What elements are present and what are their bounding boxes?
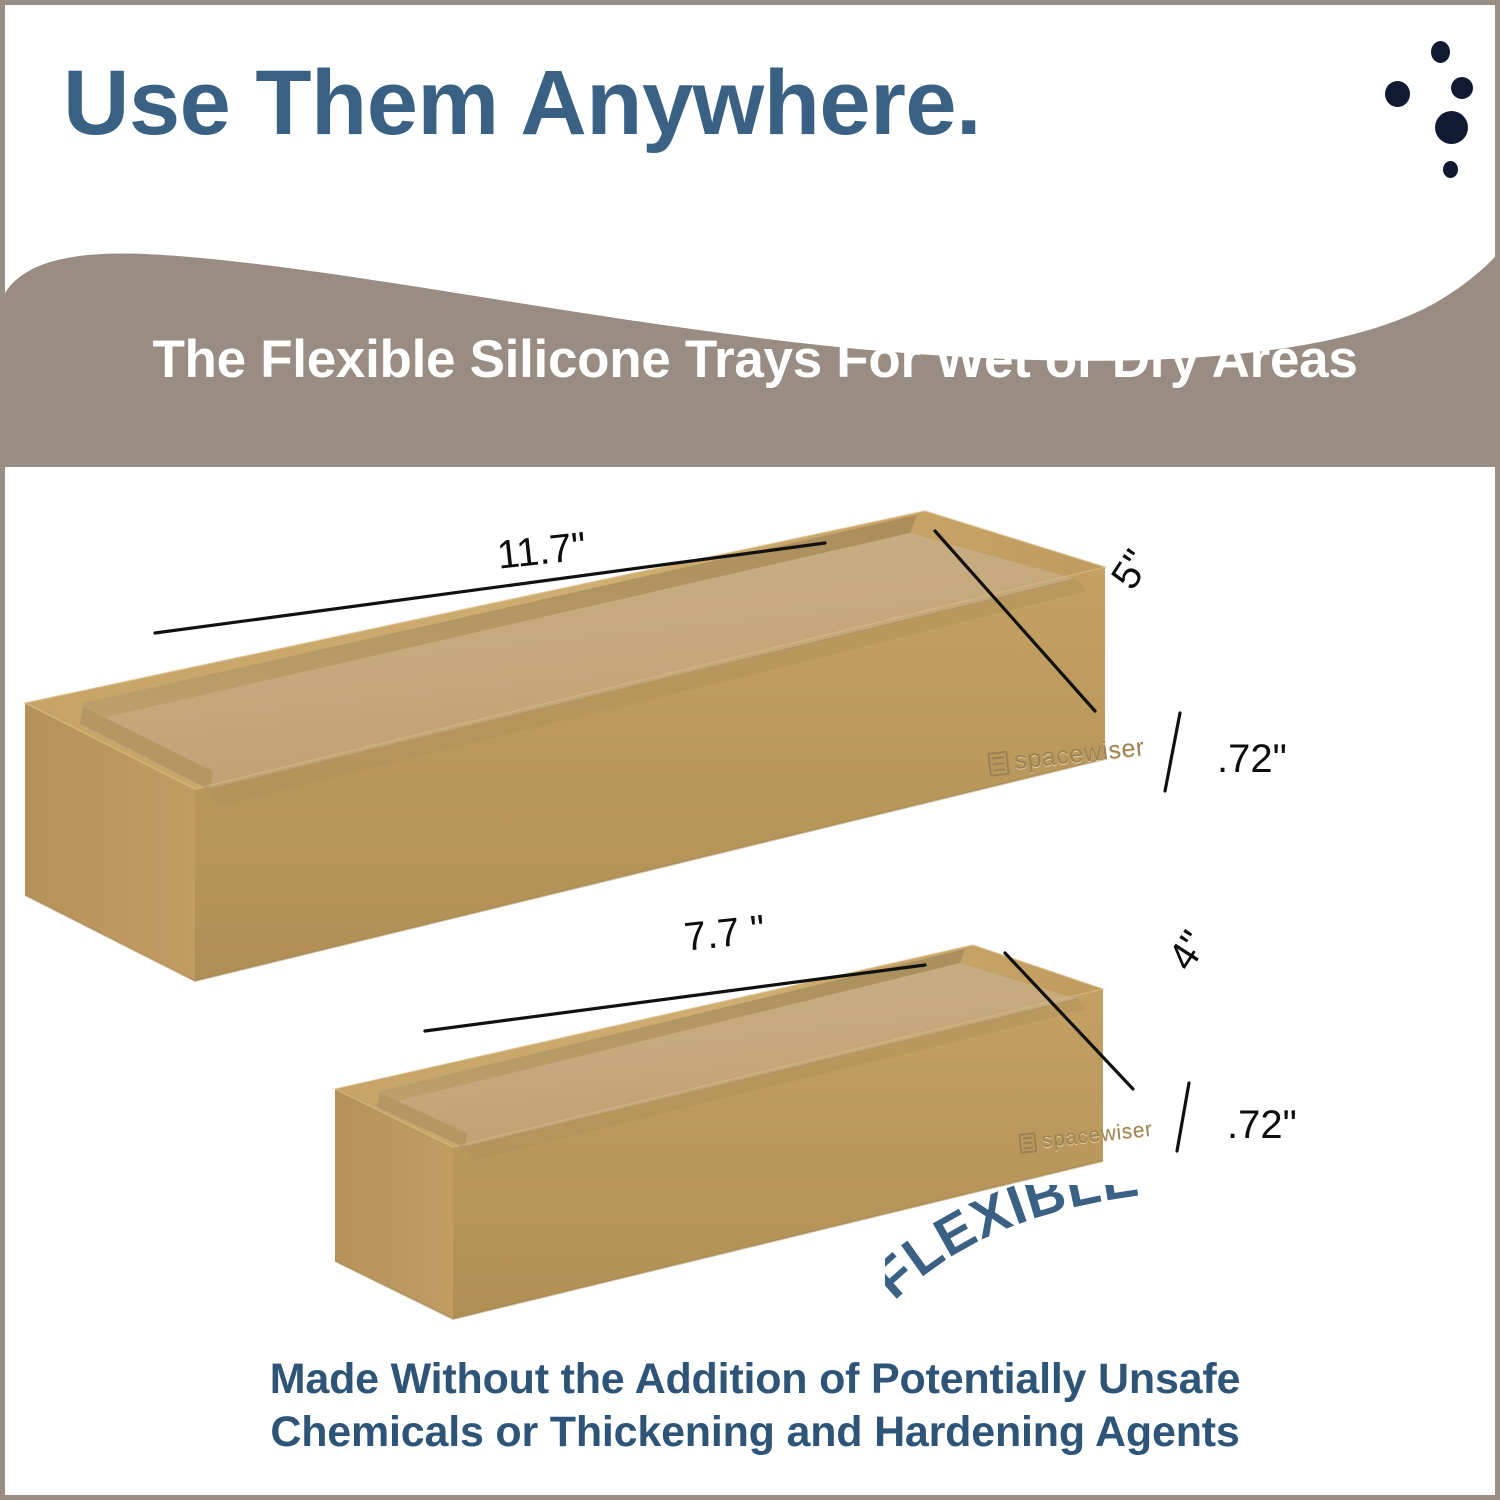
caption-line-2: Chemicals or Thickening and Hardening Ag… xyxy=(5,1406,1500,1459)
large-tray-height-label: .72" xyxy=(1217,737,1287,782)
infographic-canvas: Use Them Anywhere. The Flexible Silicone… xyxy=(0,0,1500,1500)
large-tray xyxy=(25,511,1105,981)
subtitle-banner: The Flexible Silicone Trays For Wet or D… xyxy=(5,223,1500,471)
dots-cluster-icon xyxy=(1373,33,1500,183)
page-title: Use Them Anywhere. xyxy=(63,57,981,149)
bottom-caption: Made Without the Addition of Potentially… xyxy=(5,1353,1500,1459)
large-tray-length-label: 11.7" xyxy=(495,524,588,578)
flexible-label: FLEXIBLE xyxy=(885,1185,1143,1310)
flexible-callout: FLEXIBLE xyxy=(885,1185,1205,1315)
banner-subtitle: The Flexible Silicone Trays For Wet or D… xyxy=(5,329,1500,390)
caption-line-1: Made Without the Addition of Potentially… xyxy=(5,1353,1500,1406)
small-tray-height-label: .72" xyxy=(1227,1103,1297,1148)
small-tray-length-label: 7.7 " xyxy=(682,907,767,960)
